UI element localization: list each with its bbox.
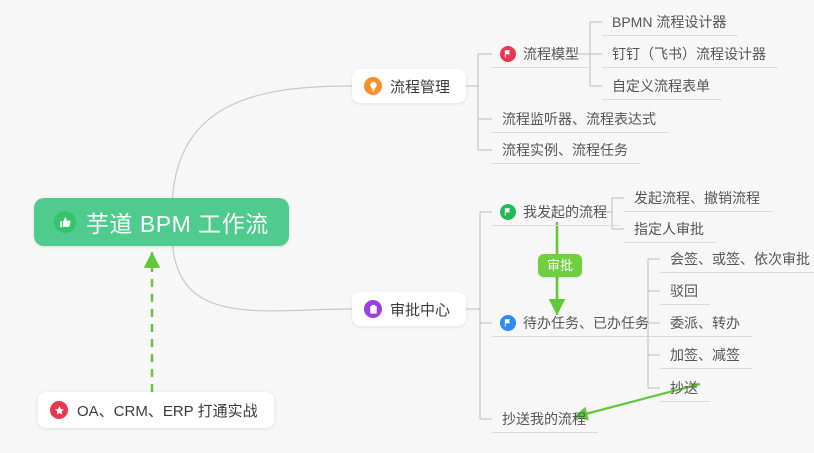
- leaf-label: 待办任务、已办任务: [523, 313, 649, 333]
- leaf-process-model[interactable]: 流程模型: [492, 40, 591, 68]
- root-label: 芋道 BPM 工作流: [86, 205, 269, 239]
- branch-approval-center[interactable]: 审批中心: [352, 292, 466, 326]
- thumbs-up-icon: [54, 211, 76, 233]
- leaf-delegate-transfer[interactable]: 委派、转办: [660, 309, 752, 337]
- leaf-countersign[interactable]: 会签、或签、依次审批: [660, 245, 814, 273]
- lightbulb-icon: [364, 77, 382, 95]
- leaf-process-listener[interactable]: 流程监听器、流程表达式: [492, 105, 668, 133]
- leaf-label: 加签、减签: [670, 345, 740, 365]
- leaf-label: BPMN 流程设计器: [612, 12, 726, 32]
- mindmap-canvas: 芋道 BPM 工作流 流程管理 流程模型 BPMN 流程设计器 钉钉（飞书）流程…: [0, 0, 814, 453]
- leaf-label: 抄送: [670, 378, 698, 398]
- leaf-start-cancel-process[interactable]: 发起流程、撤销流程: [624, 184, 772, 212]
- leaf-label: 自定义流程表单: [612, 76, 710, 96]
- leaf-todo-done-tasks[interactable]: 待办任务、已办任务: [492, 309, 661, 337]
- root-node[interactable]: 芋道 BPM 工作流: [34, 198, 289, 246]
- leaf-label: 流程模型: [523, 44, 579, 64]
- leaf-custom-form[interactable]: 自定义流程表单: [602, 72, 722, 100]
- clipboard-icon: [364, 300, 382, 318]
- leaf-label: 指定人审批: [634, 219, 704, 239]
- leaf-label: 会签、或签、依次审批: [670, 249, 810, 269]
- leaf-bpmn-designer[interactable]: BPMN 流程设计器: [602, 8, 738, 36]
- branch-label: 审批中心: [390, 299, 450, 320]
- leaf-assignee-approval[interactable]: 指定人审批: [624, 215, 716, 243]
- leaf-label: 流程实例、流程任务: [502, 140, 628, 160]
- approval-tag: 审批: [538, 254, 582, 277]
- leaf-add-remove-sign[interactable]: 加签、减签: [660, 341, 752, 369]
- leaf-cc-my-process[interactable]: 抄送我的流程: [492, 405, 598, 433]
- leaf-label: 抄送我的流程: [502, 409, 586, 429]
- leaf-process-instance[interactable]: 流程实例、流程任务: [492, 136, 640, 164]
- leaf-dingtalk-designer[interactable]: 钉钉（飞书）流程设计器: [602, 40, 778, 68]
- bottom-card-oa-crm-erp[interactable]: OA、CRM、ERP 打通实战: [38, 392, 274, 428]
- leaf-label: 我发起的流程: [523, 202, 607, 222]
- flag-icon-green: [500, 204, 516, 220]
- leaf-cc[interactable]: 抄送: [660, 374, 710, 402]
- leaf-label: 委派、转办: [670, 313, 740, 333]
- leaf-label: 钉钉（飞书）流程设计器: [612, 44, 766, 64]
- branch-process-management[interactable]: 流程管理: [352, 69, 466, 103]
- leaf-label: 驳回: [670, 281, 698, 301]
- leaf-label: 流程监听器、流程表达式: [502, 109, 656, 129]
- leaf-label: 发起流程、撤销流程: [634, 188, 760, 208]
- branch-label: 流程管理: [390, 76, 450, 97]
- leaf-reject[interactable]: 驳回: [660, 277, 710, 305]
- bottom-card-label: OA、CRM、ERP 打通实战: [77, 400, 258, 421]
- flag-icon-blue: [500, 315, 516, 331]
- flag-icon-red: [500, 46, 516, 62]
- star-icon: [50, 401, 68, 419]
- leaf-my-initiated[interactable]: 我发起的流程: [492, 198, 619, 226]
